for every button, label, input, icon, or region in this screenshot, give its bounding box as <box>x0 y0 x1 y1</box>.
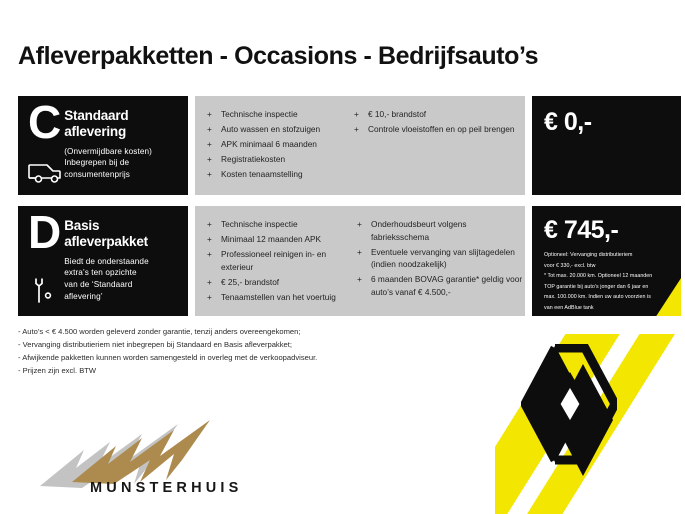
footnote-line: - Auto’s < € 4.500 worden geleverd zonde… <box>18 325 317 338</box>
feature-item: + 6 maanden BOVAG garantie* geldig voor … <box>357 273 525 298</box>
fineprint-line: * Tot max. 20.000 km. Optioneel 12 maand… <box>544 272 671 281</box>
package-subtitle-line1: (Onvermijdbare kosten) <box>64 146 152 158</box>
package-features-basis: + Technische inspectie + Minimaal 12 maa… <box>195 206 525 316</box>
feature-text: Kosten tenaamstelling <box>221 168 350 181</box>
footnote-line: - Prijzen zijn excl. BTW <box>18 364 317 377</box>
package-title-line2: aflevering <box>64 124 152 140</box>
feature-column-2: + Onderhoudsbeurt volgens fabrieksschema… <box>353 218 525 308</box>
fineprint-line: max. 100.000 km. Indien uw auto voorzien… <box>544 293 671 302</box>
bullet-plus-icon: + <box>207 248 221 273</box>
price-box-basis: € 745,- Optioneel: Vervanging distributi… <box>532 206 681 316</box>
fineprint-line: TOP garantie bij auto’s jonger dan 6 jaa… <box>544 283 671 292</box>
footnote-line: - Afwijkende pakketten kunnen worden sam… <box>18 351 317 364</box>
feature-text: Professioneel reinigen in- en exterieur <box>221 248 353 273</box>
fineprint-line: van een AdBlue tank <box>544 304 671 313</box>
price-amount: € 0,- <box>544 110 671 135</box>
package-title-line1: Standaard <box>64 108 152 124</box>
fineprint-line: Optioneel: Vervanging distributieriem <box>544 251 671 260</box>
package-header-standaard: C Standaard aflevering (Onvermijdbare ko… <box>18 96 188 195</box>
feature-item: + Eventuele vervanging van slijtagedelen… <box>357 246 525 271</box>
package-title-line2: afleverpakket <box>64 234 149 250</box>
package-letter-c: C <box>28 104 60 142</box>
package-title-block: Basis afleverpakket Biedt de onderstaand… <box>64 216 149 302</box>
poster-page: Afleverpakketten - Occasions - Bedrijfsa… <box>0 0 685 514</box>
feature-item: + Onderhoudsbeurt volgens fabrieksschema <box>357 218 525 243</box>
package-subtitle-line3: consumentenprijs <box>64 169 152 181</box>
feature-text: € 25,- brandstof <box>221 276 353 289</box>
feature-column-1: + Technische inspectie + Minimaal 12 maa… <box>195 218 353 308</box>
feature-text: APK minimaal 6 maanden <box>221 138 350 151</box>
bullet-plus-icon: + <box>207 123 221 136</box>
bullet-plus-icon: + <box>207 108 221 121</box>
row-gap <box>525 206 532 316</box>
package-row-standaard: C Standaard aflevering (Onvermijdbare ko… <box>18 96 681 195</box>
feature-text: Auto wassen en stofzuigen <box>221 123 350 136</box>
feature-text: 6 maanden BOVAG garantie* geldig voor au… <box>371 273 525 298</box>
feature-item: + Controle vloeistoffen en op peil breng… <box>354 123 525 136</box>
row-gap <box>188 96 195 195</box>
price-amount: € 745,- <box>544 218 671 243</box>
package-subtitle-line3: van de ‘Standaard <box>64 279 149 291</box>
feature-item: + Auto wassen en stofzuigen <box>207 123 350 136</box>
bullet-plus-icon: + <box>207 233 221 246</box>
price-box-standaard: € 0,- <box>532 96 681 195</box>
feature-column-2: + € 10,- brandstof + Controle vloeistoff… <box>350 108 525 187</box>
feature-text: € 10,- brandstof <box>368 108 525 121</box>
bullet-plus-icon: + <box>354 108 368 121</box>
package-header-basis: D Basis afleverpakket Biedt de onderstaa… <box>18 206 188 316</box>
dealer-name: MUNSTERHUIS <box>90 480 243 496</box>
bullet-plus-icon: + <box>354 123 368 136</box>
van-icon <box>28 162 62 189</box>
feature-text: Controle vloeistoffen en op peil brengen <box>368 123 525 136</box>
feature-item: + € 25,- brandstof <box>207 276 353 289</box>
feature-column-1: + Technische inspectie + Auto wassen en … <box>195 108 350 187</box>
feature-item: + APK minimaal 6 maanden <box>207 138 350 151</box>
bullet-plus-icon: + <box>207 168 221 181</box>
package-subtitle-line4: aflevering’ <box>64 291 149 303</box>
footnotes: - Auto’s < € 4.500 worden geleverd zonde… <box>18 325 317 377</box>
renault-diamond-icon <box>521 344 617 480</box>
feature-text: Registratiekosten <box>221 153 350 166</box>
package-features-standaard: + Technische inspectie + Auto wassen en … <box>195 96 525 195</box>
package-title-line1: Basis <box>64 218 149 234</box>
feature-item: + € 10,- brandstof <box>354 108 525 121</box>
feature-text: Onderhoudsbeurt volgens fabrieksschema <box>371 218 525 243</box>
bullet-plus-icon: + <box>357 218 371 243</box>
row-gap <box>188 206 195 316</box>
package-letter-d: D <box>28 214 60 252</box>
feature-item: + Minimaal 12 maanden APK <box>207 233 353 246</box>
fineprint-line: voor € 330,- excl. btw <box>544 262 671 271</box>
bullet-plus-icon: + <box>207 218 221 231</box>
feature-text: Technische inspectie <box>221 108 350 121</box>
feature-item: + Technische inspectie <box>207 108 350 121</box>
feature-text: Eventuele vervanging van slijtagedelen (… <box>371 246 525 271</box>
row-gap <box>525 96 532 195</box>
feature-item: + Registratiekosten <box>207 153 350 166</box>
feature-item: + Technische inspectie <box>207 218 353 231</box>
bullet-plus-icon: + <box>207 276 221 289</box>
bullet-plus-icon: + <box>207 138 221 151</box>
package-subtitle-line1: Biedt de onderstaande <box>64 256 149 268</box>
feature-item: + Professioneel reinigen in- en exterieu… <box>207 248 353 273</box>
bullet-plus-icon: + <box>207 291 221 304</box>
feature-text: Technische inspectie <box>221 218 353 231</box>
footnote-line: - Vervanging distributieriem niet inbegr… <box>18 338 317 351</box>
bullet-plus-icon: + <box>357 246 371 271</box>
price-fineprint: Optioneel: Vervanging distributieriem vo… <box>544 251 671 312</box>
package-subtitle-line2: extra’s ten opzichte <box>64 267 149 279</box>
feature-text: Minimaal 12 maanden APK <box>221 233 353 246</box>
feature-item: + Tenaamstellen van het voertuig <box>207 291 353 304</box>
feature-item: + Kosten tenaamstelling <box>207 168 350 181</box>
wrench-icon <box>28 277 56 310</box>
page-title: Afleverpakketten - Occasions - Bedrijfsa… <box>18 42 538 71</box>
bullet-plus-icon: + <box>357 273 371 298</box>
renault-brand-corner <box>495 334 685 514</box>
munsterhuis-logo: MUNSTERHUIS <box>38 420 223 506</box>
package-row-basis: D Basis afleverpakket Biedt de onderstaa… <box>18 206 681 316</box>
feature-text: Tenaamstellen van het voertuig <box>221 291 353 304</box>
package-subtitle-line2: Inbegrepen bij de <box>64 157 152 169</box>
bullet-plus-icon: + <box>207 153 221 166</box>
package-title-block: Standaard aflevering (Onvermijdbare kost… <box>64 106 152 181</box>
